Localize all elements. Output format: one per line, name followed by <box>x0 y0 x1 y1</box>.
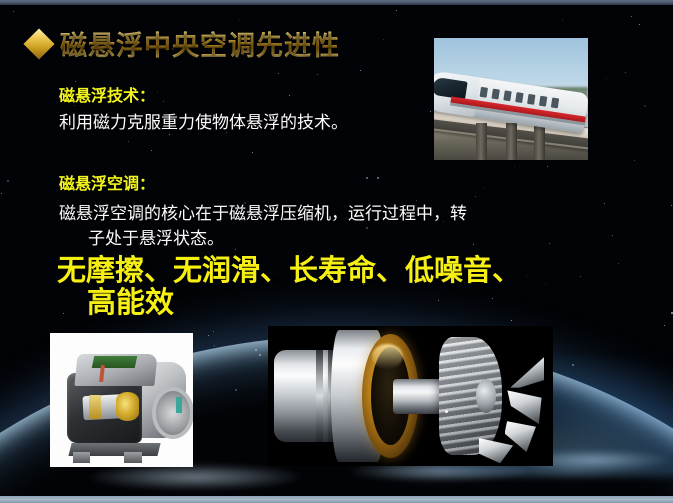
star <box>13 11 14 12</box>
star <box>634 160 635 161</box>
star <box>514 166 515 167</box>
section-heading-maglev-tech: 磁悬浮技术： <box>59 82 155 106</box>
earth-cloud <box>90 464 300 490</box>
star <box>396 10 397 11</box>
page-title: 磁悬浮中央空调先进性 <box>60 24 340 63</box>
window-top-bar <box>0 0 673 5</box>
render-specular-dot <box>445 410 448 413</box>
star <box>317 74 318 75</box>
compressor-cutaway-photo <box>50 333 193 467</box>
compressor-foot <box>124 452 141 463</box>
rotor-shaft-groove <box>316 350 322 442</box>
star <box>618 263 619 264</box>
section-body-maglev-hvac-line1: 磁悬浮空调的核心在于磁悬浮压缩机，运行过程中，转 <box>59 199 467 224</box>
star <box>671 205 672 206</box>
star <box>360 70 361 71</box>
star <box>213 331 214 332</box>
impeller-blade <box>479 438 513 463</box>
slide-root: 磁悬浮中央空调先进性 磁悬浮技术： 利用磁力克服重力使物体悬浮的技术。 磁悬浮空… <box>0 0 673 503</box>
star <box>631 16 632 17</box>
star <box>606 78 607 79</box>
guideway-pier <box>534 123 545 160</box>
star <box>377 177 379 179</box>
star <box>1 193 2 194</box>
guideway-pier <box>506 123 517 160</box>
compressor-inlet-ring <box>152 387 193 439</box>
star <box>44 401 45 402</box>
train-side-window <box>480 86 488 97</box>
star <box>366 227 368 229</box>
guideway-pier <box>476 123 487 160</box>
star <box>430 111 431 112</box>
train-side-window <box>527 93 535 104</box>
star <box>151 150 152 151</box>
compressor-port <box>176 397 182 413</box>
star <box>7 180 9 182</box>
highlight-benefits: 无摩擦、无润滑、长寿命、低噪音、 高能效 <box>57 254 617 319</box>
highlight-line-2: 高能效 <box>57 286 617 318</box>
slide-title-row: 磁悬浮中央空调先进性 <box>28 24 340 63</box>
section-body-maglev-tech: 利用磁力克服重力使物体悬浮的技术。 <box>59 108 348 133</box>
star <box>604 203 605 204</box>
train-side-window <box>539 95 547 106</box>
star <box>547 166 548 167</box>
compressor-magnetic-coil <box>116 392 139 421</box>
star <box>169 134 170 135</box>
star <box>366 177 368 179</box>
train-side-window <box>491 88 499 99</box>
compressor-control-board <box>92 356 137 368</box>
impeller-hub <box>476 379 496 413</box>
star <box>128 141 129 142</box>
train-side-window <box>503 90 511 101</box>
star <box>239 20 240 21</box>
train-side-window <box>515 92 523 103</box>
star <box>208 335 209 336</box>
star <box>235 249 236 250</box>
star <box>278 73 279 74</box>
compressor-foot <box>73 452 90 463</box>
star <box>289 95 290 96</box>
star <box>163 101 164 102</box>
star <box>475 196 476 197</box>
star <box>383 39 384 40</box>
star <box>664 325 665 326</box>
compressor-coil-left <box>89 395 102 419</box>
star <box>671 312 673 314</box>
section-heading-maglev-hvac: 磁悬浮空调： <box>59 170 155 194</box>
star <box>511 320 512 321</box>
section-body-maglev-hvac-line2: 子处于悬浮状态。 <box>88 224 224 249</box>
star <box>214 345 215 346</box>
magnetic-bearing-render <box>268 326 553 466</box>
star <box>483 188 484 189</box>
star <box>639 24 640 25</box>
star <box>252 152 253 153</box>
window-bottom-bar <box>0 496 673 503</box>
diamond-bullet-icon <box>23 28 54 59</box>
star <box>644 105 646 107</box>
star <box>473 244 474 245</box>
star <box>612 235 613 236</box>
star <box>625 72 626 73</box>
star <box>157 91 158 92</box>
star <box>549 243 550 244</box>
maglev-train-photo <box>434 38 588 160</box>
highlight-line-1: 无摩擦、无润滑、长寿命、低噪音、 <box>57 253 521 287</box>
train-side-window <box>551 97 559 108</box>
impeller-blade <box>507 390 541 424</box>
impeller-blade <box>510 357 544 388</box>
star <box>562 19 563 20</box>
